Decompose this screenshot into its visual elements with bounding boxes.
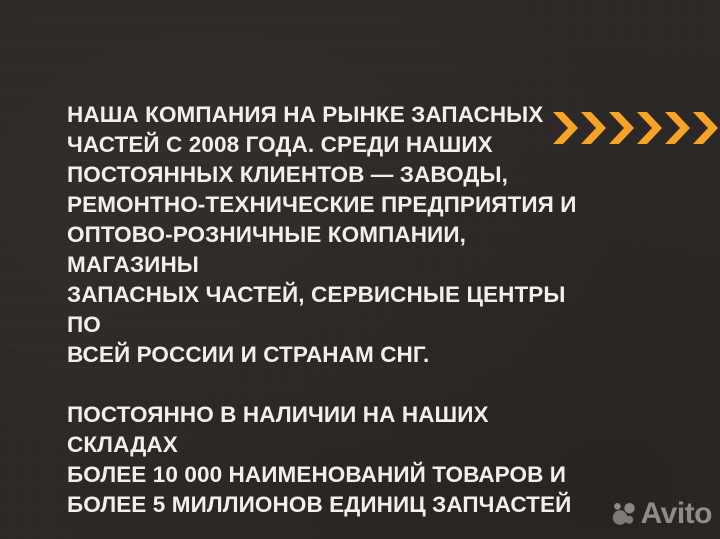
avito-wordmark-text: Avito: [641, 499, 712, 529]
avito-watermark: Avito: [611, 497, 712, 531]
banner-copy-block: Наша компания на рынке запасных частей с…: [67, 100, 597, 520]
company-description-paragraph: Наша компания на рынке запасных частей с…: [67, 100, 597, 370]
avito-logo-icon: [611, 502, 637, 526]
advertisement-banner: Наша компания на рынке запасных частей с…: [0, 0, 720, 539]
inventory-stats-paragraph: Постоянно в наличии на наших складах бол…: [67, 400, 597, 520]
